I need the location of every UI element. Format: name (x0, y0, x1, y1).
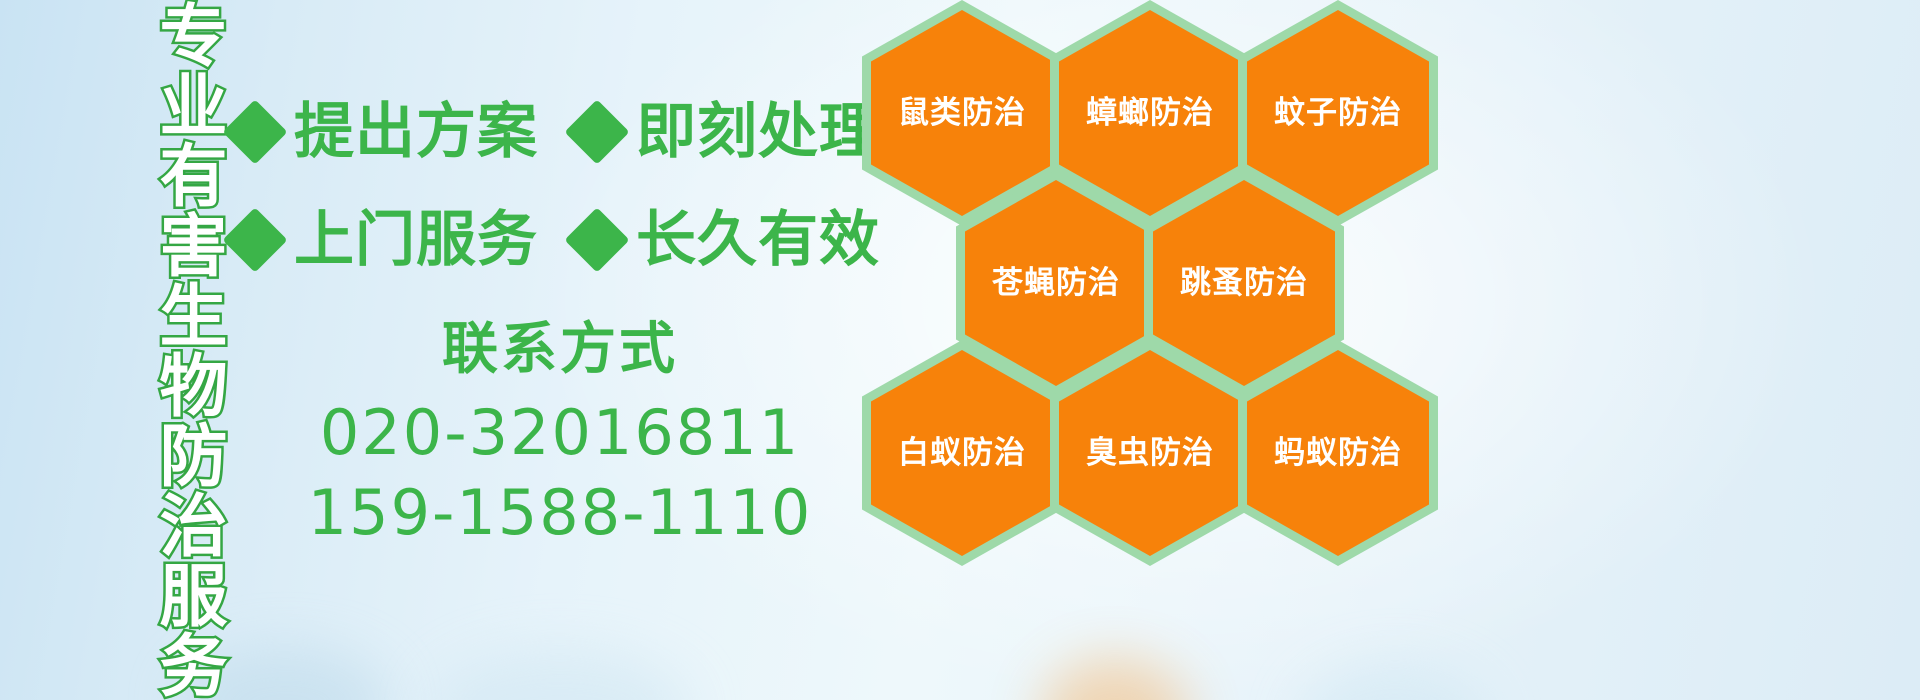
service-label: 蚊子防治 (1274, 98, 1402, 129)
feature-row: 上门服务 长久有效 (232, 186, 872, 294)
service-label: 白蚁防治 (898, 438, 1026, 469)
diamond-bullet-icon (222, 99, 287, 164)
service-label: 臭虫防治 (1086, 438, 1214, 469)
diamond-bullet-icon (564, 99, 629, 164)
diamond-bullet-icon (564, 207, 629, 272)
hexagon-inner: 苍蝇防治 (965, 180, 1147, 386)
hexagon-inner: 臭虫防治 (1059, 350, 1241, 556)
hexagon-inner: 蟑螂防治 (1059, 10, 1241, 216)
feature-label: 即刻处理 (636, 102, 880, 162)
decorative-blob (1040, 658, 1190, 700)
service-label: 苍蝇防治 (992, 268, 1120, 299)
feature-list: 提出方案 即刻处理 上门服务 长久有效 (232, 78, 872, 294)
decorative-blob (1300, 664, 1490, 700)
service-hexagon-grid: 鼠类防治 蟑螂防治 蚊子防治 苍蝇防治 跳蚤防治 白蚁防治 (862, 0, 1462, 552)
hexagon-inner: 鼠类防治 (871, 10, 1053, 216)
feature-label: 上门服务 (294, 210, 538, 270)
pest-control-banner: 专业有害生物防治服务 提出方案 即刻处理 上门服务 长久有效 联系方式 (0, 0, 1920, 700)
diamond-bullet-icon (222, 207, 287, 272)
service-label: 蟑螂防治 (1086, 98, 1214, 129)
feature-label: 长久有效 (636, 210, 880, 270)
service-label: 跳蚤防治 (1180, 268, 1308, 299)
feature-row: 提出方案 即刻处理 (232, 78, 872, 186)
feature-item: 长久有效 (574, 210, 880, 270)
hexagon-inner: 蚂蚁防治 (1247, 350, 1429, 556)
feature-item: 即刻处理 (574, 102, 880, 162)
phone-number-secondary[interactable]: 159-1588-1110 (300, 473, 820, 552)
contact-title: 联系方式 (300, 316, 820, 383)
hexagon-inner: 跳蚤防治 (1153, 180, 1335, 386)
service-label: 鼠类防治 (898, 98, 1026, 129)
feature-label: 提出方案 (294, 102, 538, 162)
service-label: 蚂蚁防治 (1274, 438, 1402, 469)
contact-block: 联系方式 020-32016811 159-1588-1110 (300, 316, 820, 552)
hexagon-inner: 白蚁防治 (871, 350, 1053, 556)
feature-item: 上门服务 (232, 210, 538, 270)
vertical-headline: 专业有害生物防治服务 (112, 4, 224, 696)
phone-number-primary[interactable]: 020-32016811 (300, 393, 820, 472)
hexagon-inner: 蚊子防治 (1247, 10, 1429, 216)
feature-item: 提出方案 (232, 102, 538, 162)
decorative-blob (430, 650, 690, 700)
